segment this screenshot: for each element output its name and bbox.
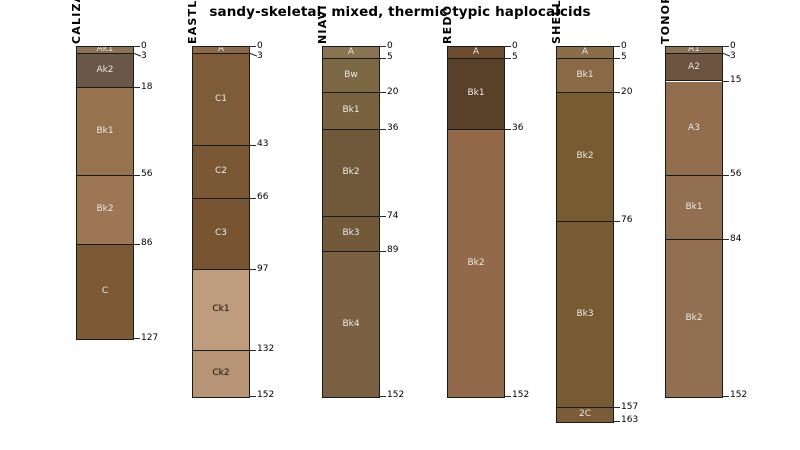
depth-tick: [379, 216, 386, 217]
horizon-label: C1: [215, 95, 227, 104]
depth-tick: [613, 221, 620, 222]
depth-tick-label: 86: [141, 239, 152, 248]
depth-tick: [379, 92, 386, 93]
depth-tick-label: 97: [257, 265, 268, 274]
horizon-label: Bk2: [342, 168, 359, 177]
soil-horizon: C3: [193, 199, 249, 270]
depth-tick: [133, 244, 140, 245]
soil-horizon: A: [193, 47, 249, 54]
soil-horizon: A: [448, 47, 504, 59]
depth-tick: [249, 396, 256, 397]
soil-series-name: NIAVI: [316, 4, 329, 44]
depth-tick: [722, 175, 729, 176]
profile-column: ABk1Bk2: [447, 46, 505, 398]
depth-tick: [504, 129, 511, 130]
depth-tick: [133, 87, 140, 88]
soil-horizon: A1: [666, 47, 722, 54]
depth-tick: [722, 239, 729, 240]
soil-series-name: EASTLAND: [186, 0, 199, 44]
horizon-label: A: [582, 48, 588, 57]
depth-tick-label: 36: [387, 124, 398, 133]
depth-tick-label: 84: [730, 235, 741, 244]
horizon-label: Bk1: [96, 127, 113, 136]
depth-tick-label: 5: [512, 53, 518, 62]
soil-horizon: C: [77, 245, 133, 339]
depth-tick: [722, 396, 729, 397]
profile-column: ABwBk1Bk2Bk3Bk4: [322, 46, 380, 398]
depth-tick-label: 0: [141, 42, 147, 51]
depth-tick: [613, 421, 620, 422]
depth-tick-label: 43: [257, 140, 268, 149]
soil-horizon: C1: [193, 54, 249, 146]
horizon-label: Bk1: [576, 71, 593, 80]
soil-horizon: Bk2: [323, 130, 379, 217]
horizon-label: Bk2: [576, 152, 593, 161]
horizon-label: Ck1: [212, 305, 229, 314]
depth-tick: [379, 129, 386, 130]
depth-tick-label: 76: [621, 216, 632, 225]
horizon-label: A1: [688, 47, 700, 54]
soil-horizon: Ck2: [193, 351, 249, 397]
soil-horizon: Bk1: [448, 59, 504, 130]
depth-tick-label: 152: [257, 391, 274, 400]
page-title: sandy-skeletal, mixed, thermic typic hap…: [0, 4, 800, 20]
depth-tick: [504, 396, 511, 397]
depth-tick: [379, 58, 386, 59]
depth-tick: [133, 46, 140, 47]
depth-tick: [379, 46, 386, 47]
horizon-label: A: [218, 47, 224, 54]
soil-horizon: Bk1: [666, 176, 722, 240]
horizon-label: A2: [688, 63, 700, 72]
horizon-label: Bk1: [342, 106, 359, 115]
soil-horizon: Bk1: [557, 59, 613, 94]
horizon-label: Bk4: [342, 320, 359, 329]
depth-tick: [249, 350, 256, 351]
horizon-label: Bk3: [576, 310, 593, 319]
depth-tick-label: 56: [141, 170, 152, 179]
depth-tick-label: 56: [730, 170, 741, 179]
depth-tick-label: 74: [387, 212, 398, 221]
soil-series-name: REDO: [441, 5, 454, 44]
horizon-label: C: [102, 287, 108, 296]
soil-horizon: Bk2: [77, 176, 133, 245]
depth-tick-label: 152: [730, 391, 747, 400]
depth-tick: [249, 198, 256, 199]
depth-tick: [613, 407, 620, 408]
depth-tick-label: 132: [257, 345, 274, 354]
horizon-label: 2C: [579, 410, 591, 419]
soil-horizon: Bk3: [557, 222, 613, 408]
depth-tick-label: 152: [387, 391, 404, 400]
profile-column: A1A2A3Bk1Bk2: [665, 46, 723, 398]
depth-tick-label: 0: [730, 42, 736, 51]
depth-tick-label: 5: [621, 53, 627, 62]
horizon-label: Bk1: [685, 203, 702, 212]
horizon-label: C3: [215, 229, 227, 238]
depth-tick-label: 0: [621, 42, 627, 51]
horizon-label: Bk2: [467, 259, 484, 268]
depth-tick-label: 5: [387, 53, 393, 62]
depth-tick: [379, 396, 386, 397]
horizon-label: A: [348, 48, 354, 57]
horizon-label: Bk3: [342, 229, 359, 238]
depth-tick-label: 15: [730, 76, 741, 85]
horizon-label: Bk2: [96, 205, 113, 214]
soil-horizon: Bk1: [77, 88, 133, 175]
depth-tick-label: 3: [730, 52, 736, 61]
depth-tick: [249, 145, 256, 146]
soil-horizon: 2C: [557, 408, 613, 422]
horizon-label: Bw: [344, 71, 358, 80]
depth-tick-label: 18: [141, 83, 152, 92]
soil-horizon: Ak2: [77, 54, 133, 89]
soil-horizon: Bk2: [666, 240, 722, 396]
soil-horizon: A3: [666, 82, 722, 176]
soil-series-name: SHELLEY: [550, 0, 563, 44]
soil-horizon: Bw: [323, 59, 379, 94]
depth-tick: [613, 46, 620, 47]
depth-tick: [133, 338, 140, 339]
horizon-label: A: [473, 48, 479, 57]
soil-horizon: C2: [193, 146, 249, 199]
horizon-label: Bk2: [685, 314, 702, 323]
soil-horizon: A: [323, 47, 379, 59]
depth-tick: [249, 46, 256, 47]
horizon-label: Ck2: [212, 369, 229, 378]
depth-tick: [379, 251, 386, 252]
depth-tick-label: 0: [512, 42, 518, 51]
depth-tick: [504, 46, 511, 47]
profile-column: ABk1Bk2Bk32C: [556, 46, 614, 423]
depth-tick-label: 0: [387, 42, 393, 51]
soil-horizon: A2: [666, 54, 722, 82]
depth-tick: [504, 58, 511, 59]
soil-horizon: Bk3: [323, 217, 379, 252]
depth-tick-label: 152: [512, 391, 529, 400]
depth-tick-label: 3: [141, 52, 147, 61]
horizon-label: Bk1: [467, 89, 484, 98]
soil-horizon: Bk1: [323, 93, 379, 130]
soil-horizon: Bk4: [323, 252, 379, 397]
soil-series-name: CALIZA: [70, 0, 83, 44]
depth-tick-label: 89: [387, 246, 398, 255]
depth-tick-label: 20: [621, 88, 632, 97]
soil-horizon: A: [557, 47, 613, 59]
depth-tick: [722, 46, 729, 47]
horizon-label: A3: [688, 124, 700, 133]
depth-tick: [249, 269, 256, 270]
depth-tick-label: 157: [621, 403, 638, 412]
profile-column: AC1C2C3Ck1Ck2: [192, 46, 250, 398]
depth-tick: [613, 58, 620, 59]
soil-horizon: Bk2: [557, 93, 613, 222]
depth-tick-label: 3: [257, 52, 263, 61]
depth-tick-label: 66: [257, 193, 268, 202]
horizon-label: Ak1: [96, 47, 113, 54]
depth-tick-label: 0: [257, 42, 263, 51]
depth-tick: [133, 175, 140, 176]
depth-tick-label: 163: [621, 416, 638, 425]
soil-horizon: Ck1: [193, 270, 249, 351]
depth-tick-label: 127: [141, 334, 158, 343]
depth-tick: [613, 92, 620, 93]
depth-tick-label: 20: [387, 88, 398, 97]
soil-series-name: TONOPAH: [659, 0, 672, 44]
horizon-label: Ak2: [96, 66, 113, 75]
depth-tick: [722, 81, 729, 82]
horizon-label: C2: [215, 167, 227, 176]
soil-horizon: Ak1: [77, 47, 133, 54]
depth-tick-label: 36: [512, 124, 523, 133]
soil-horizon: Bk2: [448, 130, 504, 397]
profile-column: Ak1Ak2Bk1Bk2C: [76, 46, 134, 340]
